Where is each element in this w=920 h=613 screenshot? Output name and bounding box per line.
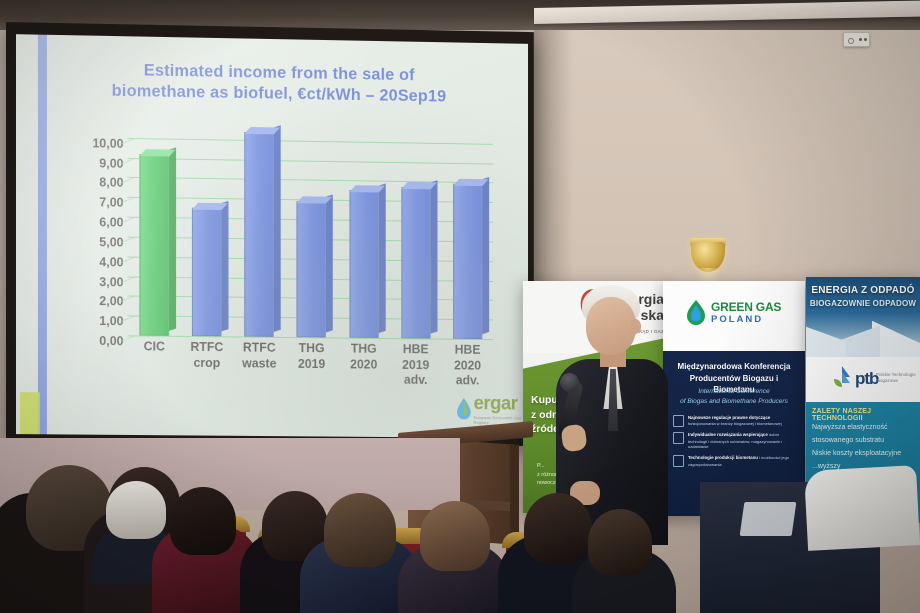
bar-side: [169, 147, 176, 331]
banner-gg-heading-en-2: of Biogas and Biomethane Producers: [671, 397, 797, 407]
bar-face: [245, 132, 275, 337]
bar-chart: 10,009,008,007,006,005,004,003,002,001,0…: [46, 117, 509, 411]
x-axis-labels: CICRTFCcropRTFCwasteTHG2019THG2020HBE201…: [128, 339, 494, 404]
laptop: [740, 502, 797, 536]
audience-head: [170, 487, 236, 555]
x-axis-label-line: THG: [335, 341, 392, 357]
ptb-wordmark: ptb: [855, 370, 878, 387]
y-axis-tick-label: 2,00: [52, 294, 124, 309]
plot-area: [128, 118, 494, 339]
y-axis-tick-label: 7,00: [52, 195, 124, 210]
wall-sconce-icon: [691, 238, 725, 278]
bar-side: [222, 201, 229, 331]
x-axis-label-line: CIC: [126, 339, 183, 355]
x-axis-label-line: HBE: [387, 342, 444, 358]
bar-thg-2020: [349, 190, 378, 338]
speaker-ear: [630, 319, 641, 334]
banner-ptb-headline: ENERGIA Z ODPADÓ: [806, 285, 920, 296]
bar-hbe-2019-adv: [401, 187, 430, 338]
bar-face: [349, 190, 378, 338]
bar-face: [453, 184, 482, 339]
banner-gg-heading-en: International Conference of Biogas and B…: [671, 387, 797, 407]
banner-gg-name-country: POLAND: [711, 315, 781, 325]
y-axis-tick-label: 6,00: [52, 215, 124, 230]
audience-head: [420, 501, 490, 571]
bar-top: [139, 149, 175, 156]
banner-gg-name-main: GREEN GAS: [711, 301, 781, 313]
audience: [0, 410, 920, 613]
ptb-leaf-icon: [832, 365, 852, 391]
bar-cic: [139, 154, 169, 336]
x-axis-label-line: 2020: [439, 358, 495, 374]
bar-side: [274, 125, 281, 332]
x-axis-label-line: crop: [178, 355, 235, 371]
bar-side: [482, 177, 489, 334]
bar-face: [192, 208, 222, 336]
bar-side: [326, 195, 333, 333]
y-axis-tick-label: 4,00: [52, 254, 124, 269]
x-axis-label-line: RTFC: [178, 340, 235, 356]
bar-rtfc-crop: [192, 208, 222, 336]
slide-surface: Estimated income from the sale of biomet…: [16, 34, 528, 438]
audience-head: [324, 493, 396, 567]
bar-side: [430, 181, 437, 334]
y-axis-tick-label: 10,00: [52, 136, 124, 151]
bar-top: [401, 182, 436, 189]
x-axis-label: THG2020: [335, 341, 392, 373]
conference-room-photo: Estimated income from the sale of biomet…: [0, 0, 920, 613]
bar-side: [378, 184, 385, 333]
banner-gg-heading-pl-1: Międzynarodowa Konferencja: [671, 361, 797, 373]
x-axis-label-line: waste: [231, 356, 288, 372]
y-axis-tick-label: 3,00: [52, 274, 124, 289]
power-outlet-icon: [843, 32, 870, 47]
gas-flame-leaf-icon: [685, 299, 707, 325]
x-axis-label: HBE2020adv.: [439, 343, 495, 390]
x-axis-label-line: adv.: [439, 373, 495, 389]
y-axis-tick-label: 9,00: [52, 155, 124, 170]
ptb-logo-subtitle-2: Biogazowe: [876, 378, 916, 384]
banner-gg-heading-en-1: International Conference: [671, 387, 797, 397]
bar-face: [297, 201, 326, 337]
mountain-graphic: [806, 315, 920, 357]
bar-hbe-2020-adv: [453, 184, 482, 339]
bar-thg-2019: [297, 201, 326, 337]
bars-group: [128, 118, 494, 339]
audience-head: [524, 493, 592, 563]
x-axis-label-line: 2019: [283, 356, 340, 372]
draped-cloth: [804, 465, 920, 551]
banner-gg-name: GREEN GAS POLAND: [711, 299, 781, 325]
x-axis-label: RTFCwaste: [231, 340, 288, 372]
audience-head: [588, 509, 652, 575]
x-axis-label-line: RTFC: [231, 340, 288, 356]
y-axis-tick-label: 8,00: [52, 175, 124, 190]
x-axis-label: CIC: [126, 339, 183, 355]
slide-title: Estimated income from the sale of biomet…: [112, 60, 447, 108]
bar-top: [349, 186, 385, 193]
x-axis-label-line: 2019: [387, 357, 444, 373]
ptb-logo-subtitle: Polskie Technologie Biogazowe: [876, 372, 916, 385]
x-axis-label-line: THG: [283, 341, 340, 357]
x-axis-label: RTFCcrop: [178, 340, 235, 372]
banner-ptb-subhead: BIOGAZOWNIE ODPADOW: [806, 299, 920, 308]
y-axis-tick-label: 0,00: [52, 333, 124, 348]
projection-screen: Estimated income from the sale of biomet…: [6, 22, 534, 446]
y-axis: 10,009,008,007,006,005,004,003,002,001,0…: [46, 117, 124, 336]
y-axis-tick-label: 1,00: [52, 314, 124, 329]
banner-gg-logo: GREEN GAS POLAND: [685, 299, 781, 325]
audience-head-grayhair: [106, 481, 166, 539]
y-axis-tick-label: 5,00: [52, 235, 124, 250]
x-axis-label-line: 2020: [335, 357, 392, 373]
bar-rtfc-waste: [245, 132, 275, 337]
x-axis-label: THG2019: [283, 341, 340, 373]
banner-ptb-logo: ptb: [832, 365, 878, 391]
speaker-head: [586, 297, 636, 355]
x-axis-label: HBE2019adv.: [387, 342, 444, 389]
x-axis-label-line: adv.: [387, 373, 444, 389]
bar-face: [401, 187, 430, 338]
bar-face: [139, 154, 169, 336]
x-axis-label-line: HBE: [439, 343, 495, 359]
